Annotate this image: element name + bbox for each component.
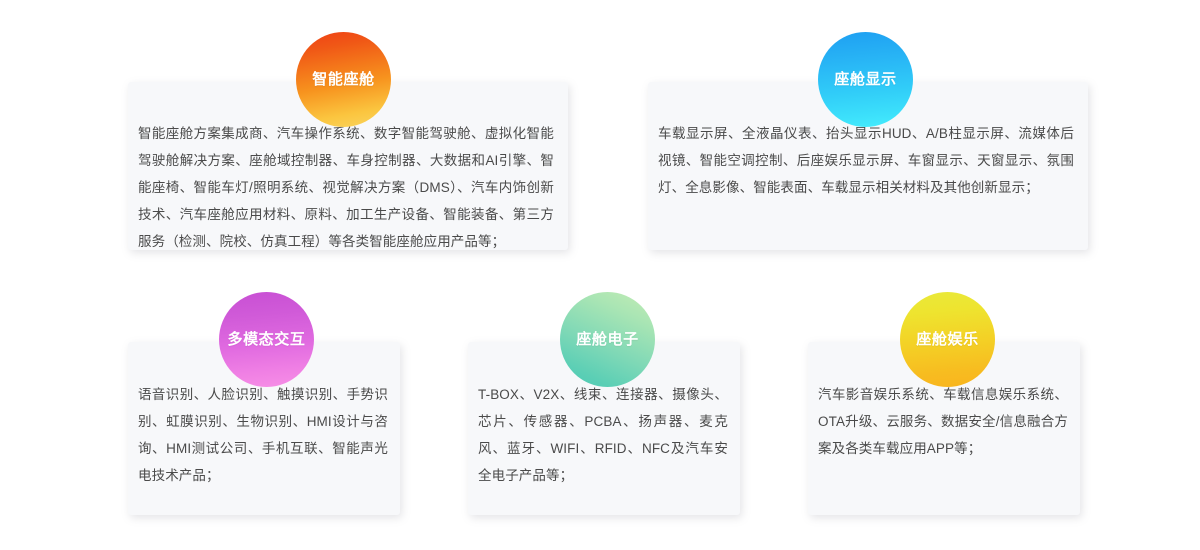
category-badge-label: 座舱电子 xyxy=(576,332,638,347)
category-description: T-BOX、V2X、线束、连接器、摄像头、芯片、传感器、PCBA、扬声器、麦克风… xyxy=(468,381,740,489)
category-badge-label: 座舱显示 xyxy=(834,72,896,87)
category-badge-multimodal-interaction[interactable]: 多模态交互 xyxy=(219,292,314,387)
category-badge-cockpit-electronics[interactable]: 座舱电子 xyxy=(560,292,655,387)
category-description: 语音识别、人脸识别、触摸识别、手势识别、虹膜识别、生物识别、HMI设计与咨询、H… xyxy=(128,381,400,489)
cockpit-category-board: 智能座舱方案集成商、汽车操作系统、数字智能驾驶舱、虚拟化智能驾驶舱解决方案、座舱… xyxy=(0,0,1200,550)
category-description: 车载显示屏、全液晶仪表、抬头显示HUD、A/B柱显示屏、流媒体后视镜、智能空调控… xyxy=(648,120,1088,201)
category-badge-cockpit-entertainment[interactable]: 座舱娱乐 xyxy=(900,292,995,387)
category-badge-cockpit-display[interactable]: 座舱显示 xyxy=(818,32,913,127)
category-badge-intelligent-cockpit[interactable]: 智能座舱 xyxy=(296,32,391,127)
category-badge-label: 多模态交互 xyxy=(227,332,305,347)
category-description: 汽车影音娱乐系统、车载信息娱乐系统、OTA升级、云服务、数据安全/信息融合方案及… xyxy=(808,381,1080,462)
category-badge-label: 座舱娱乐 xyxy=(916,332,978,347)
category-badge-label: 智能座舱 xyxy=(312,72,374,87)
category-description: 智能座舱方案集成商、汽车操作系统、数字智能驾驶舱、虚拟化智能驾驶舱解决方案、座舱… xyxy=(128,120,568,255)
